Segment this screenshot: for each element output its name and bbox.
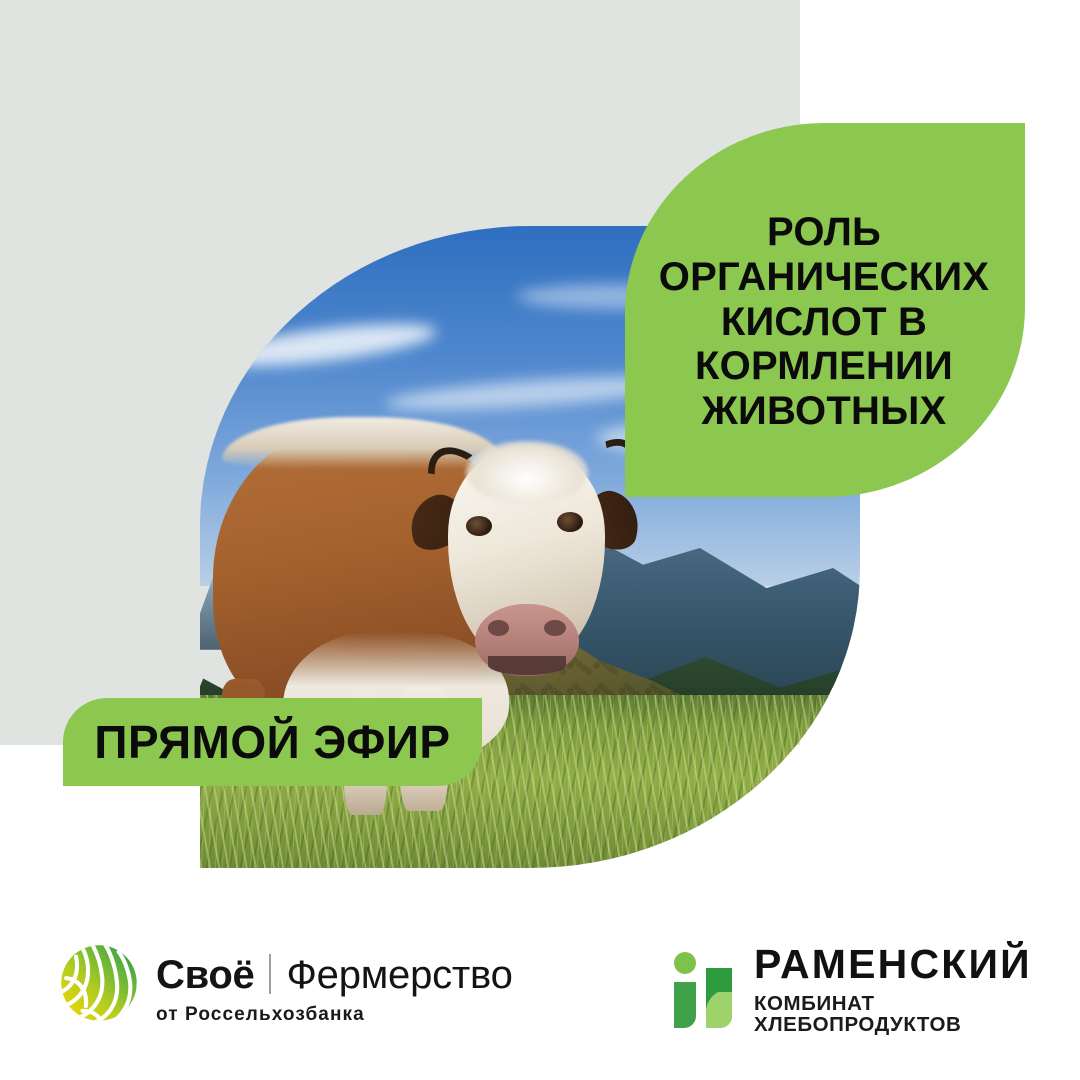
cow-nostril-right	[544, 620, 566, 636]
title-text: РОЛЬ ОРГАНИЧЕСКИХ КИСЛОТ В КОРМЛЕНИИ ЖИВ…	[659, 210, 989, 434]
ramensky-title: РАМЕНСКИЙ	[754, 944, 1080, 985]
cow-eye-left	[466, 516, 492, 536]
live-badge: ПРЯМОЙ ЭФИР	[63, 698, 482, 786]
ramensky-logo[interactable]: РАМЕНСКИЙ КОМБИНАТ ХЛЕБОПРОДУКТОВ	[672, 944, 1080, 1035]
title-badge: РОЛЬ ОРГАНИЧЕСКИХ КИСЛОТ В КОРМЛЕНИИ ЖИВ…	[625, 123, 1025, 497]
svoe-brand-bold: Своё	[156, 953, 254, 998]
ramensky-subtitle: КОМБИНАТ ХЛЕБОПРОДУКТОВ	[754, 994, 1080, 1035]
cow-nostril-left	[488, 620, 510, 636]
footer-logos: Своё Фермерство от Россельхозбанка РАМЕН…	[0, 930, 1080, 1050]
svoe-sphere-icon	[58, 942, 140, 1024]
svoe-divider	[269, 954, 271, 994]
svoe-subtitle: от Россельхозбанка	[156, 1004, 513, 1026]
live-badge-label: ПРЯМОЙ ЭФИР	[94, 715, 450, 769]
ramensky-sprout-icon	[672, 952, 734, 1028]
svoe-brand-row: Своё Фермерство	[156, 948, 513, 998]
svoe-wordmark: Своё Фермерство от Россельхозбанка	[156, 942, 513, 1026]
ramensky-wordmark: РАМЕНСКИЙ КОМБИНАТ ХЛЕБОПРОДУКТОВ	[754, 944, 1080, 1035]
poster-canvas: РОЛЬ ОРГАНИЧЕСКИХ КИСЛОТ В КОРМЛЕНИИ ЖИВ…	[0, 0, 1080, 1080]
svoe-fermerstvo-logo[interactable]: Своё Фермерство от Россельхозбанка	[58, 942, 513, 1026]
svoe-brand-light: Фермерство	[286, 953, 512, 998]
